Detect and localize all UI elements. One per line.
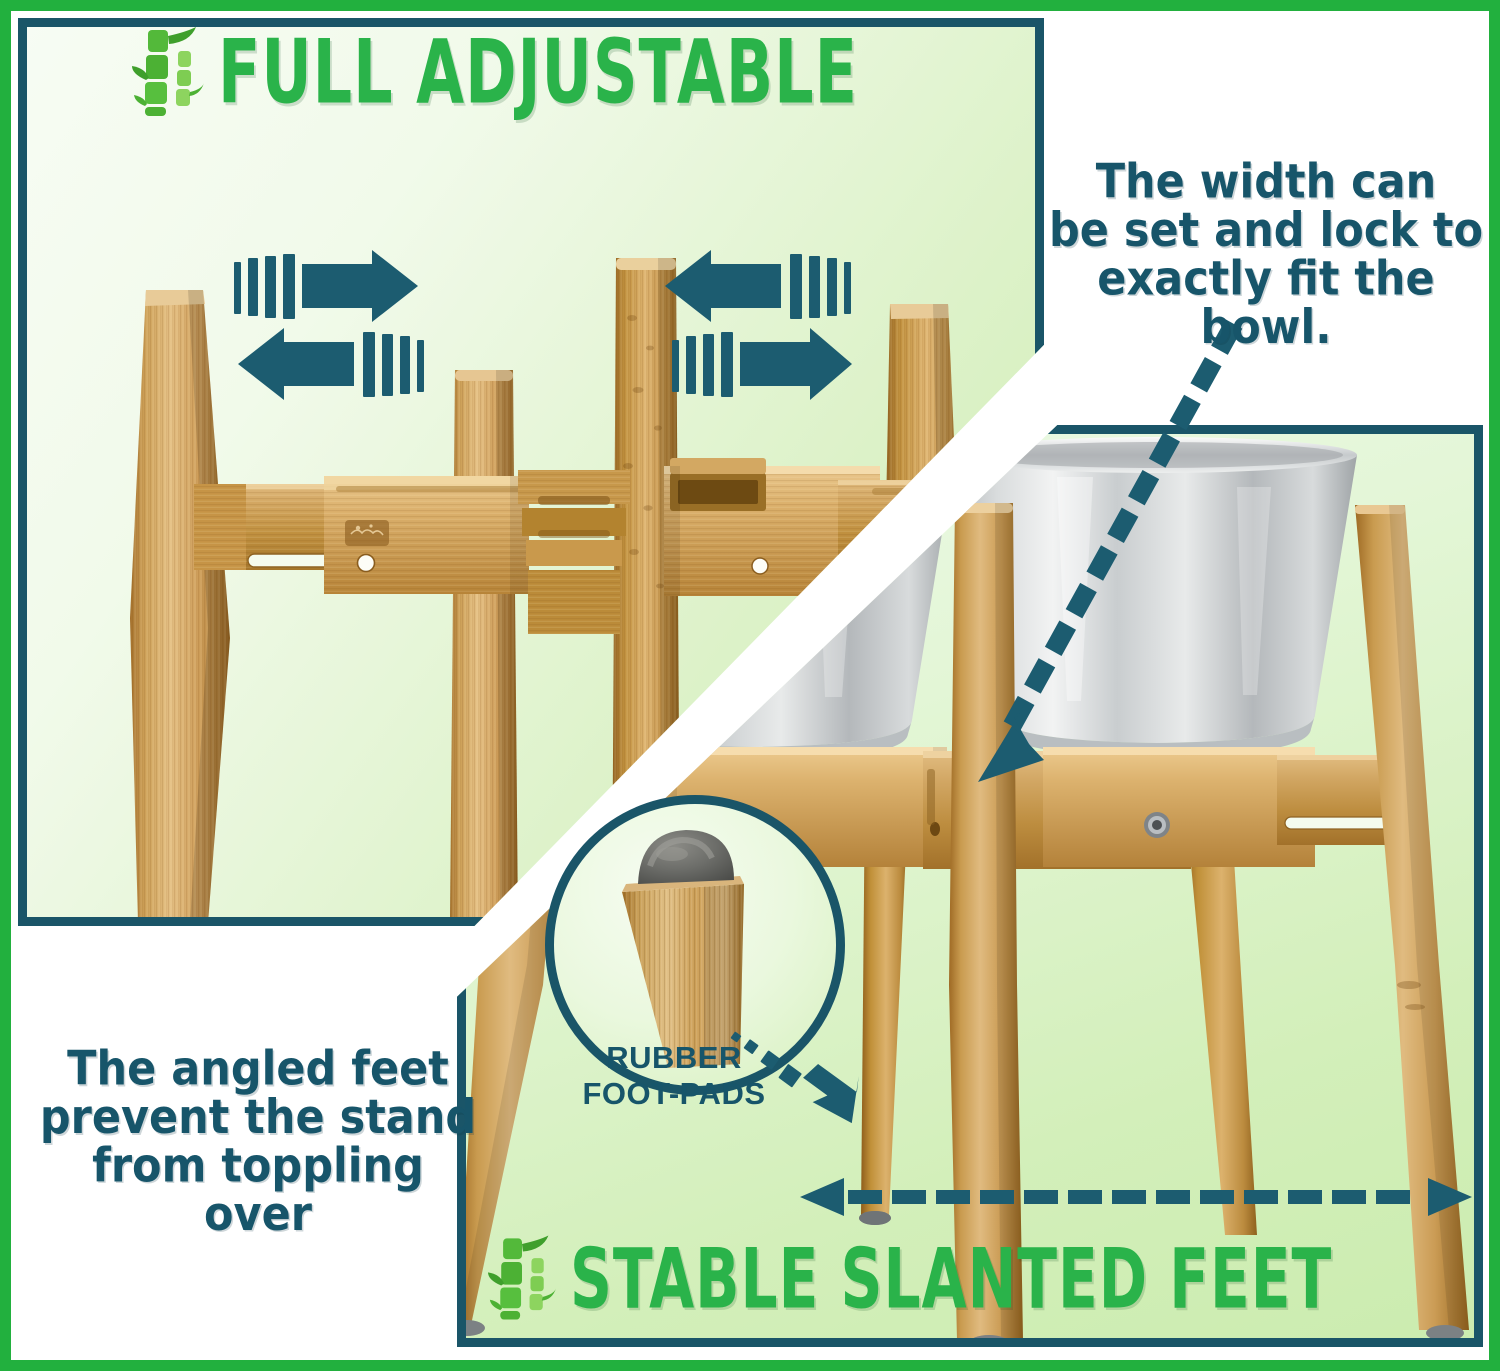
caption-angled-feet: The angled feet prevent the stand from t… — [38, 1046, 478, 1239]
infographic-canvas: FULL ADJUSTABLE The width can be set and… — [0, 0, 1500, 1371]
bamboo-icon — [488, 1234, 556, 1322]
adjust-arrows-group — [232, 248, 852, 400]
arrow-right-upper — [234, 250, 418, 322]
rubber-pad-pointer-arrow — [730, 1025, 870, 1135]
width-span-arrow — [800, 1168, 1472, 1226]
heading-label: STABLE SLANTED FEET — [570, 1229, 1332, 1327]
heading-full-adjustable: FULL ADJUSTABLE — [132, 26, 899, 118]
arrow-left-upper — [665, 250, 851, 322]
heading-label: FULL ADJUSTABLE — [218, 20, 858, 123]
dashed-pointer-arrow — [940, 318, 1260, 788]
arrow-left-lower — [238, 328, 424, 400]
arrow-right-lower — [672, 328, 852, 400]
heading-stable-slanted-feet: STABLE SLANTED FEET — [488, 1234, 1381, 1322]
caption-width-lock: The width can be set and lock to exactly… — [1040, 159, 1492, 352]
bamboo-icon — [132, 26, 204, 118]
